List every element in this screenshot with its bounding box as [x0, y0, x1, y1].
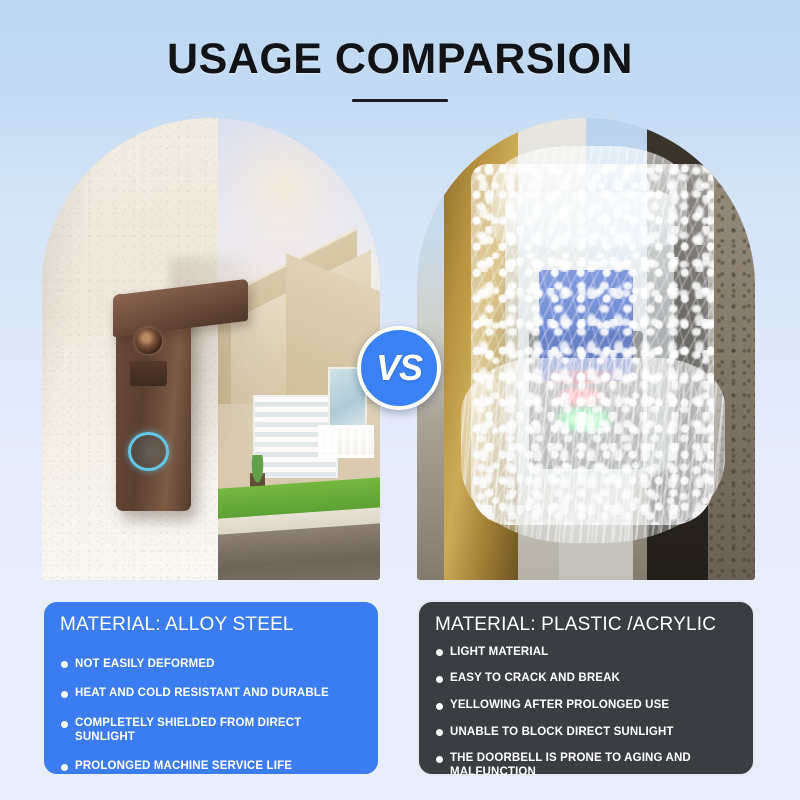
- list-item: UNABLE TO BLOCK DIRECT SUNLIGHT: [435, 726, 739, 740]
- right-material-title: MATERIAL: PLASTIC /ACRYLIC: [435, 615, 739, 636]
- list-item: YELLOWING AFTER PROLONGED USE: [435, 699, 739, 713]
- stone-wall-right: [708, 118, 755, 580]
- left-spec-card: MATERIAL: ALLOY STEEL NOT EASILY DEFORME…: [42, 600, 380, 776]
- left-feature-list: NOT EASILY DEFORMED HEAT AND COLD RESIST…: [60, 658, 364, 774]
- doorbell-motion-sensor: [130, 361, 167, 386]
- left-material-title: MATERIAL: ALLOY STEEL: [60, 615, 364, 636]
- porch-railing: [318, 425, 373, 457]
- vs-label: VS: [376, 350, 422, 386]
- left-product-photo: [42, 118, 380, 580]
- doorbell-button-ring: [128, 432, 169, 471]
- vs-badge: VS: [357, 326, 441, 410]
- plastic-wrap-top-fold: [491, 146, 687, 248]
- list-item: NOT EASILY DEFORMED: [60, 658, 364, 672]
- list-item: COMPLETELY SHIELDED FROM DIRECT SUNLIGHT: [60, 717, 364, 744]
- right-photo-scene: [417, 118, 755, 580]
- list-item: EASY TO CRACK AND BREAK: [435, 672, 739, 686]
- right-feature-list: LIGHT MATERIAL EASY TO CRACK AND BREAK Y…: [435, 646, 739, 779]
- list-item: LIGHT MATERIAL: [435, 646, 739, 660]
- page-header: USAGE COMPARSION: [0, 38, 800, 102]
- list-item: HEAT AND COLD RESISTANT AND DURABLE: [60, 687, 364, 701]
- title-divider: [352, 99, 448, 102]
- list-item: THE DOORBELL IS PRONE TO AGING AND MALFU…: [435, 752, 739, 779]
- page-title: USAGE COMPARSION: [0, 38, 800, 81]
- plastic-wrap-skirt: [461, 358, 725, 543]
- doorbell-camera-lens-icon: [135, 328, 162, 354]
- list-item: PROLONGED MACHINE SERVICE LIFE: [60, 760, 364, 774]
- right-spec-card: MATERIAL: PLASTIC /ACRYLIC LIGHT MATERIA…: [417, 600, 755, 776]
- left-photo-scene: [42, 118, 380, 580]
- right-product-photo: [417, 118, 755, 580]
